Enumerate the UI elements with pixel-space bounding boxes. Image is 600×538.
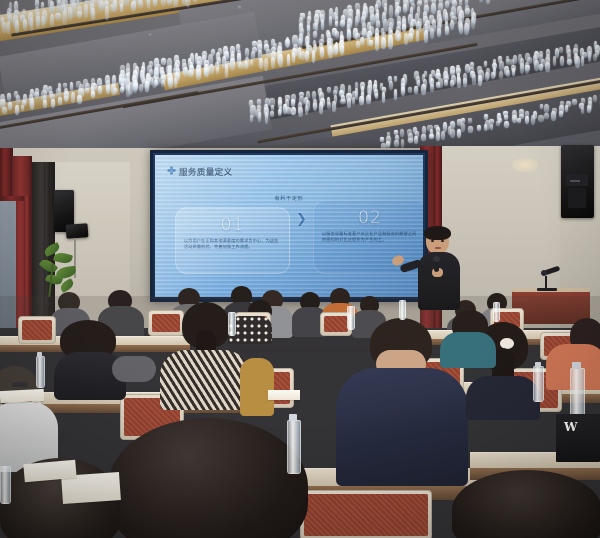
chevron-right-icon: ❯ xyxy=(296,212,307,227)
slide-title: 服务质量定义 xyxy=(179,166,232,178)
crystal-chandeliers xyxy=(0,0,600,170)
wall-speaker-left-sub xyxy=(66,223,89,239)
water-bottle xyxy=(533,366,544,402)
water-bottle xyxy=(287,420,301,474)
attendee-body xyxy=(240,358,274,416)
attendee-body xyxy=(466,376,540,420)
attendee-arm xyxy=(112,356,156,382)
slide-content: 服务质量定义 有利于定形 01 以为用户在正和其他满意度的需求为中心，为这些活动… xyxy=(155,155,423,297)
attendee-body xyxy=(336,368,468,486)
projection-screen[interactable]: 服务质量定义 有利于定形 01 以为用户在正和其他满意度的需求为中心，为这些活动… xyxy=(150,150,428,302)
water-bottle xyxy=(399,300,406,320)
water-bottle xyxy=(36,356,45,388)
chair xyxy=(18,316,56,344)
ceiling xyxy=(0,0,600,170)
conference-room-photo: 服务质量定义 有利于定形 01 以为用户在正和其他满意度的需求为中心，为这些活动… xyxy=(0,0,600,538)
slide-card-01: 01 以为用户在正和其他满意度的需求为中心，为这些活动质量检验，完善加强工作流程… xyxy=(175,207,290,274)
water-bottle xyxy=(0,466,11,504)
chair xyxy=(300,490,432,538)
paper-handout xyxy=(268,390,300,400)
water-bottle xyxy=(228,312,236,336)
bag-letter: W xyxy=(564,420,577,434)
water-bottle xyxy=(347,306,355,330)
presenter xyxy=(404,228,478,310)
flower-logo-icon xyxy=(167,166,176,175)
attendee-body xyxy=(160,350,250,410)
foreground-head xyxy=(452,470,600,538)
glasses-icon xyxy=(12,382,28,387)
chair xyxy=(148,310,184,336)
card-body: 以为用户在正和其他满意度的需求为中心，为这些活动质量检验，完善加强工作流程。 xyxy=(184,238,281,250)
attendee-body xyxy=(440,332,496,368)
water-bottle xyxy=(493,302,500,322)
card-number: 02 xyxy=(314,208,423,228)
card-number: 01 xyxy=(176,215,289,235)
tote-bag: W xyxy=(556,414,600,462)
paper-handout xyxy=(0,389,44,403)
